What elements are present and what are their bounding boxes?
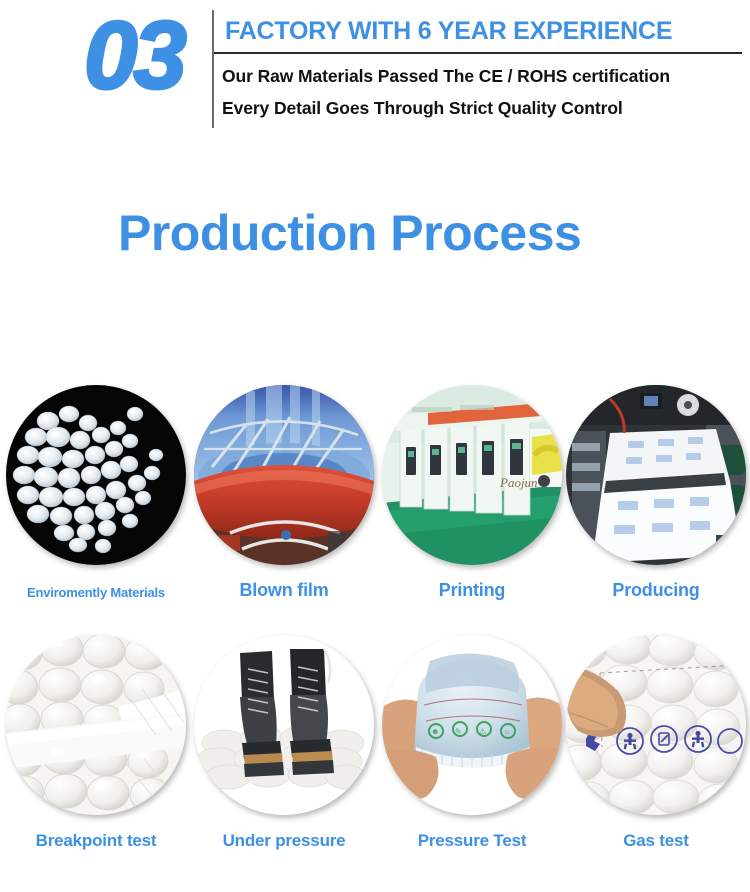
process-step: Producing xyxy=(562,382,750,565)
svg-text:✎: ✎ xyxy=(455,727,462,736)
blown-film-extrusion-machine-photo xyxy=(194,385,374,565)
header-banner: 03 FACTORY WITH 6 YEAR EXPERIENCE Our Ra… xyxy=(0,0,750,140)
production-process-grid: Enviromently Materials xyxy=(0,382,750,882)
banner-horizontal-divider xyxy=(214,52,742,54)
process-step-label: Printing xyxy=(378,580,566,601)
process-step-label: Gas test xyxy=(562,831,750,851)
rotogravure-printing-press-photo: Paojun xyxy=(382,385,562,565)
banner-title: FACTORY WITH 6 YEAR EXPERIENCE xyxy=(225,17,672,46)
page-title: Production Process xyxy=(118,204,581,262)
svg-text:⚠: ⚠ xyxy=(479,727,486,736)
banner-vertical-divider xyxy=(212,10,214,128)
hand-pressing-air-bubble-film-photo xyxy=(566,635,746,815)
plastic-resin-pellets-photo xyxy=(6,385,186,565)
process-step-label: Blown film xyxy=(190,580,378,601)
svg-text:Paojun: Paojun xyxy=(499,475,538,490)
air-cushion-breakpoint-test-photo xyxy=(6,635,186,815)
process-step: Under pressure xyxy=(190,632,378,815)
process-step: Blown film xyxy=(190,382,378,565)
process-row: Breakpoint test xyxy=(0,632,750,882)
process-step: Breakpoint test xyxy=(2,632,190,815)
process-row: Enviromently Materials xyxy=(0,382,750,632)
process-step-label: Breakpoint test xyxy=(2,831,190,851)
bag-producing-line-photo xyxy=(566,385,746,565)
svg-text:☻: ☻ xyxy=(431,727,439,736)
svg-text:☼: ☼ xyxy=(503,727,510,736)
hand-squeezing-air-bag-photo: ☻✎ ⚠☼ xyxy=(382,635,562,815)
process-step-label: Enviromently Materials xyxy=(2,585,190,600)
banner-subtitle-line-2: Every Detail Goes Through Strict Quality… xyxy=(222,98,623,119)
process-step-label: Producing xyxy=(562,580,750,601)
process-step-label: Pressure Test xyxy=(378,831,566,851)
banner-subtitle-line-1: Our Raw Materials Passed The CE / ROHS c… xyxy=(222,66,670,87)
process-step: Enviromently Materials xyxy=(2,382,190,565)
process-step: ☻✎ ⚠☼ Pressure Test xyxy=(378,632,566,815)
boots-on-air-cushion-photo xyxy=(194,635,374,815)
process-step: Gas test xyxy=(562,632,750,815)
process-step: Paojun Printing xyxy=(378,382,566,565)
process-step-label: Under pressure xyxy=(190,831,378,851)
section-number: 03 xyxy=(84,2,183,110)
